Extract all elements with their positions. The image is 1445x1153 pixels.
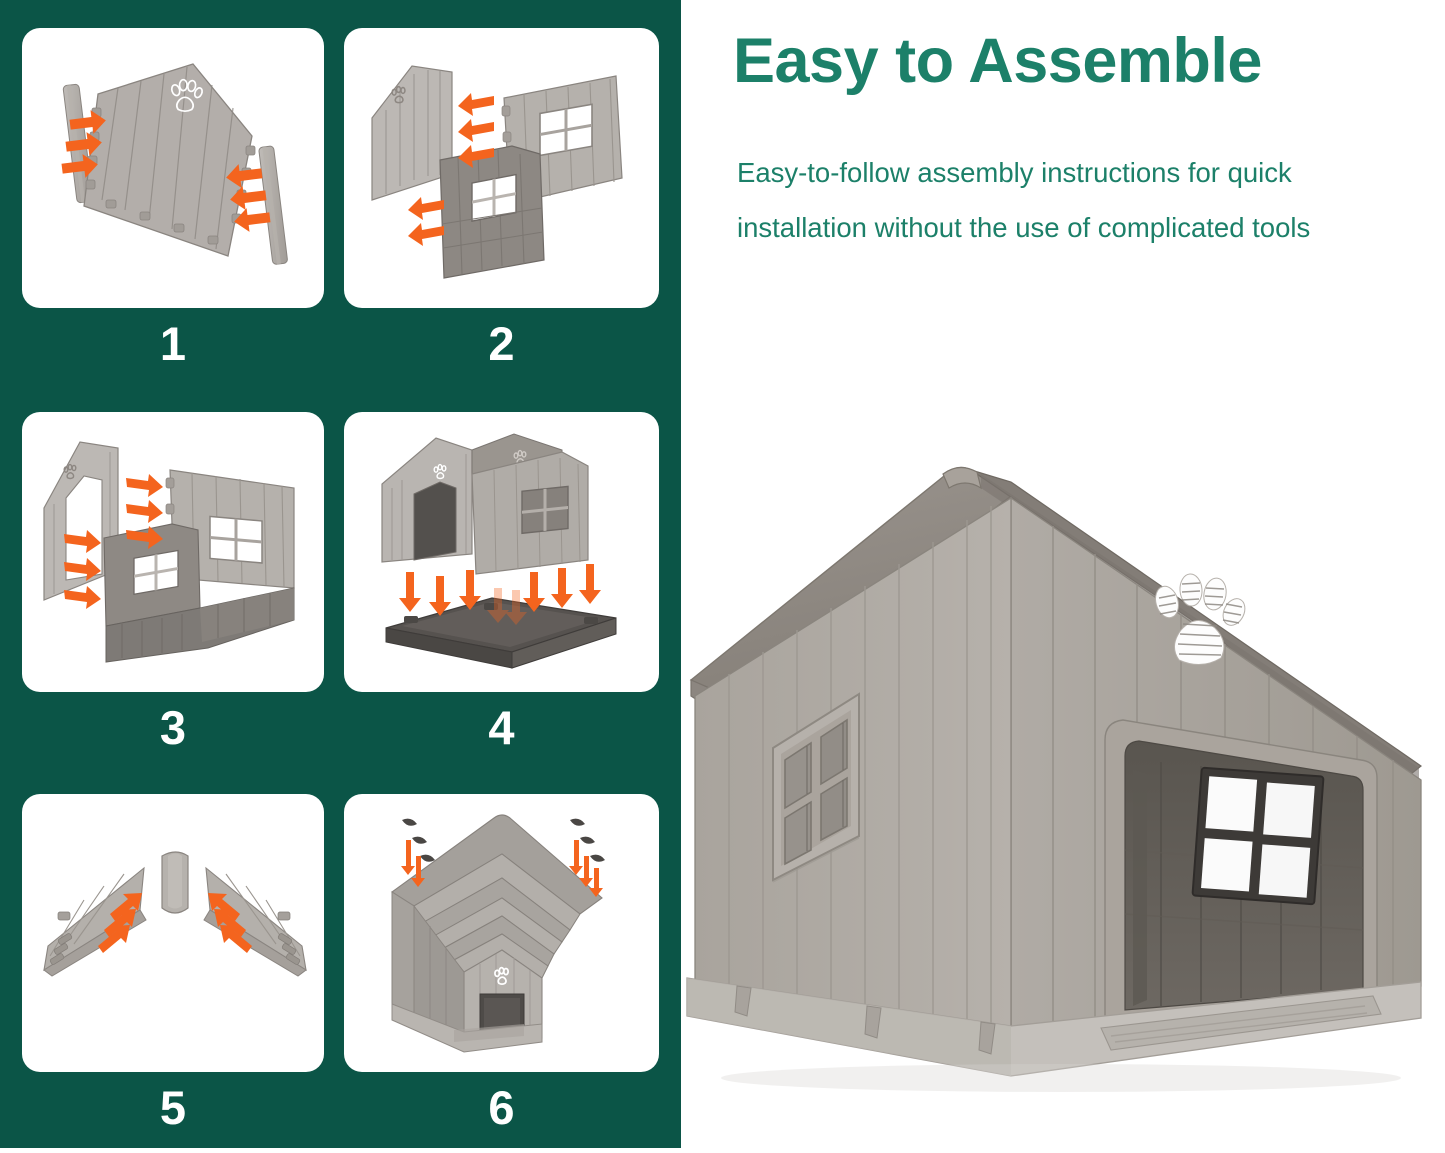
step-1-cell: 1 [22,28,324,378]
assembly-steps-panel: 1 [0,0,681,1148]
base-tray-icon [344,412,659,692]
step-4-number: 4 [344,704,659,751]
step-4-body-onto-base[interactable] [344,412,659,692]
step-2-cell: 2 [344,28,659,378]
ground-shadow [721,1064,1401,1092]
step-6-cell: 6 [344,794,659,1144]
step-5-number: 5 [22,1084,324,1131]
interior-window [1192,768,1323,905]
step-3-number: 3 [22,704,324,751]
steps-grid: 1 [0,0,681,1148]
step-6-number: 6 [344,1084,659,1131]
page-title: Easy to Assemble [733,28,1433,95]
product-hero-image [681,430,1445,1130]
step-4-cell: 4 [344,412,659,762]
gable-panel-icon [22,28,324,308]
step-5-cell: 5 [22,794,324,1144]
step-2-side-walls-with-windows[interactable] [344,28,659,308]
step-1-gable-panel-and-side-rails[interactable] [22,28,324,308]
roof-panel-icon [22,794,324,1072]
wall-frame-icon [22,412,324,692]
step-1-number: 1 [22,320,324,367]
side-wall-icon [344,28,659,308]
step-3-walls-to-floor-frame[interactable] [22,412,324,692]
step-3-cell: 3 [22,412,324,762]
plastic-dog-house [681,430,1445,1130]
step-6-secure-roof-complete[interactable] [344,794,659,1072]
finished-house-icon [344,794,659,1072]
right-content-column: Easy to Assemble Easy-to-follow assembly… [681,0,1445,1153]
page-subtext: Easy-to-follow assembly instructions for… [737,145,1417,255]
step-5-roof-panels-and-ridge-cap[interactable] [22,794,324,1072]
step-2-number: 2 [344,320,659,367]
